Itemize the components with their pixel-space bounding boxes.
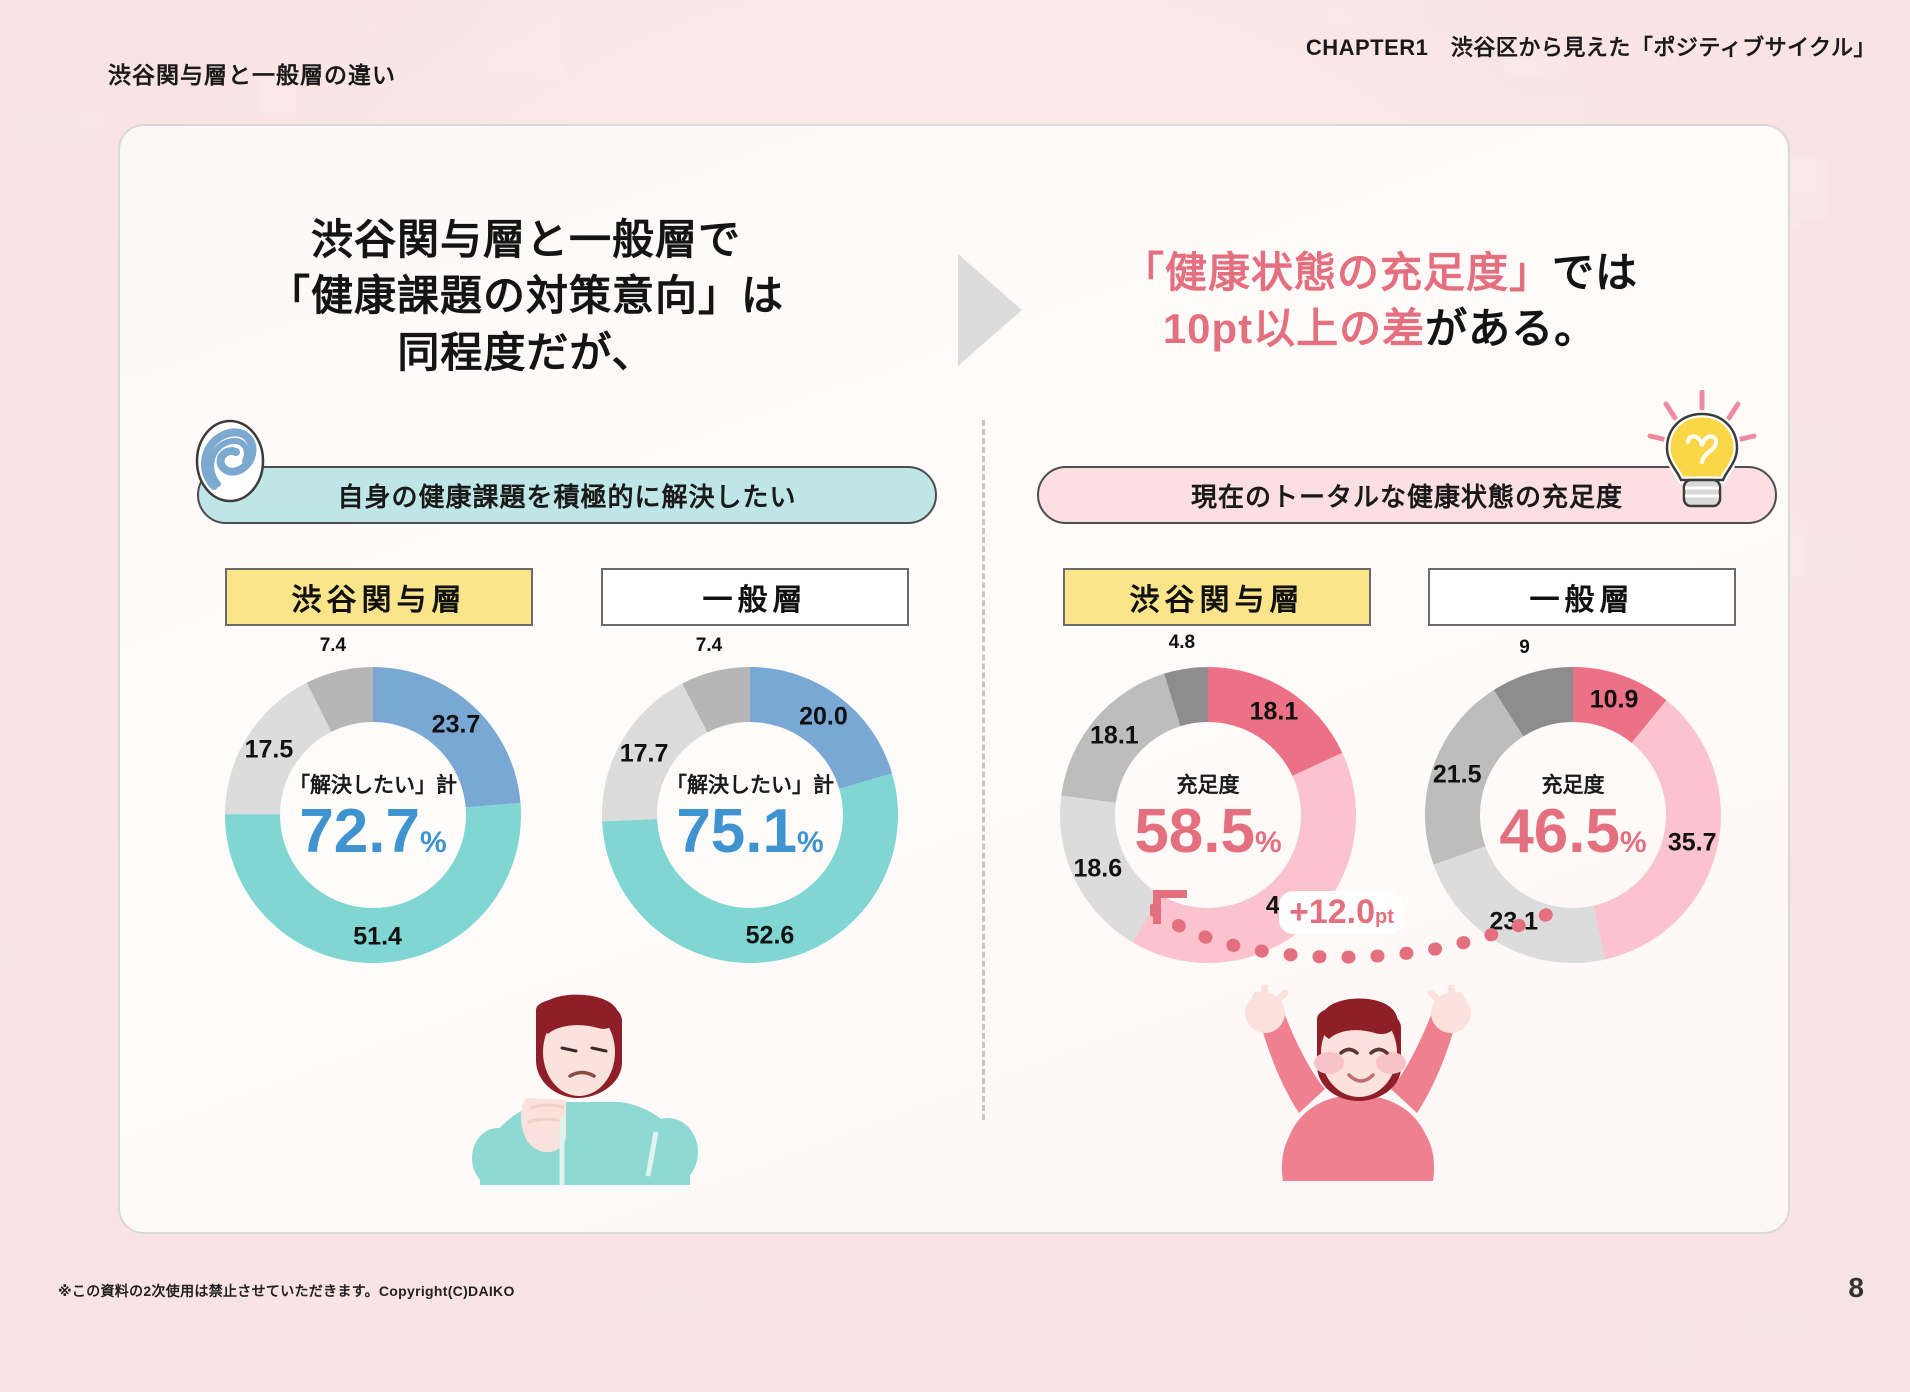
group-label-text: 一般層 <box>1530 575 1635 619</box>
donut-segment-label: 4.8 <box>1169 632 1195 654</box>
donut-segment-label: 51.4 <box>353 923 402 952</box>
right-headline-tail-2: がある。 <box>1425 305 1597 352</box>
donut-segment-label: 9 <box>1519 637 1530 659</box>
donut-segment-label: 21.5 <box>1433 761 1482 790</box>
question-pill-left-label: 自身の健康課題を積極的に解決したい <box>337 477 796 514</box>
donut-segment-label: 7.4 <box>696 635 722 657</box>
donut-segment-label: 18.1 <box>1090 722 1139 751</box>
panel-divider <box>982 420 985 1120</box>
difference-unit: pt <box>1375 906 1394 928</box>
left-headline: 渋谷関与層と一般層で 「健康課題の対策意向」は 同程度だが、 <box>176 212 876 381</box>
question-pill-left: 自身の健康課題を積極的に解決したい <box>197 466 937 524</box>
group-label-text: 渋谷関与層 <box>1130 575 1305 619</box>
thinking-person-illustration <box>470 990 700 1185</box>
difference-value: +12.0 <box>1289 893 1375 931</box>
donut-segment-label: 18.1 <box>1250 697 1299 726</box>
left-headline-line-1: 渋谷関与層と一般層で <box>176 212 876 268</box>
group-label-general-1: 一般層 <box>601 568 909 626</box>
chapter-breadcrumb: CHAPTER1 渋谷区から見えた「ポジティブサイクル」 <box>1306 30 1876 62</box>
left-headline-line-2: 「健康課題の対策意向」は <box>176 268 876 324</box>
group-label-general-2: 一般層 <box>1428 568 1736 626</box>
group-label-text: 一般層 <box>703 575 808 619</box>
donut-segment-label: 17.5 <box>245 736 294 765</box>
group-label-text: 渋谷関与層 <box>292 575 467 619</box>
right-headline-accent-1: 「健康状態の充足度」 <box>1122 249 1552 296</box>
donut-segment-label: 35.7 <box>1668 829 1717 858</box>
right-headline-line-1: 「健康状態の充足度」では <box>1040 245 1720 301</box>
donut-segment-label: 20.0 <box>799 702 848 731</box>
lightbulb-icon <box>1644 390 1760 516</box>
right-headline-line-2: 10pt以上の差がある。 <box>1040 301 1720 357</box>
donut-segment-label: 17.7 <box>620 739 669 768</box>
left-headline-line-3: 同程度だが、 <box>176 325 876 381</box>
donut-segment-label: 23.7 <box>432 710 481 739</box>
right-arrow-icon <box>958 254 1022 366</box>
group-label-shibuya-1: 渋谷関与層 <box>225 568 533 626</box>
page-title: 渋谷関与層と一般層の違い <box>108 56 396 90</box>
cheering-person-illustration <box>1225 985 1490 1185</box>
donut-segment-label: 18.6 <box>1073 854 1122 883</box>
copyright-note: ※この資料の2次使用は禁止させていただきます。Copyright(C)DAIKO <box>58 1281 515 1301</box>
question-pill-right-label: 現在のトータルな健康状態の充足度 <box>1191 477 1623 514</box>
group-label-shibuya-2: 渋谷関与層 <box>1063 568 1371 626</box>
right-headline-tail-1: では <box>1552 249 1638 296</box>
difference-badge: +12.0pt <box>1279 891 1404 934</box>
donut-segment-label: 10.9 <box>1590 685 1639 714</box>
right-headline-accent-2: 10pt以上の差 <box>1163 305 1425 352</box>
donut-segment-label: 52.6 <box>746 921 795 950</box>
page-number: 8 <box>1848 1272 1864 1304</box>
right-headline: 「健康状態の充足度」では 10pt以上の差がある。 <box>1040 245 1720 358</box>
donut-segment-label: 7.4 <box>320 635 346 657</box>
scribble-icon <box>192 418 268 504</box>
